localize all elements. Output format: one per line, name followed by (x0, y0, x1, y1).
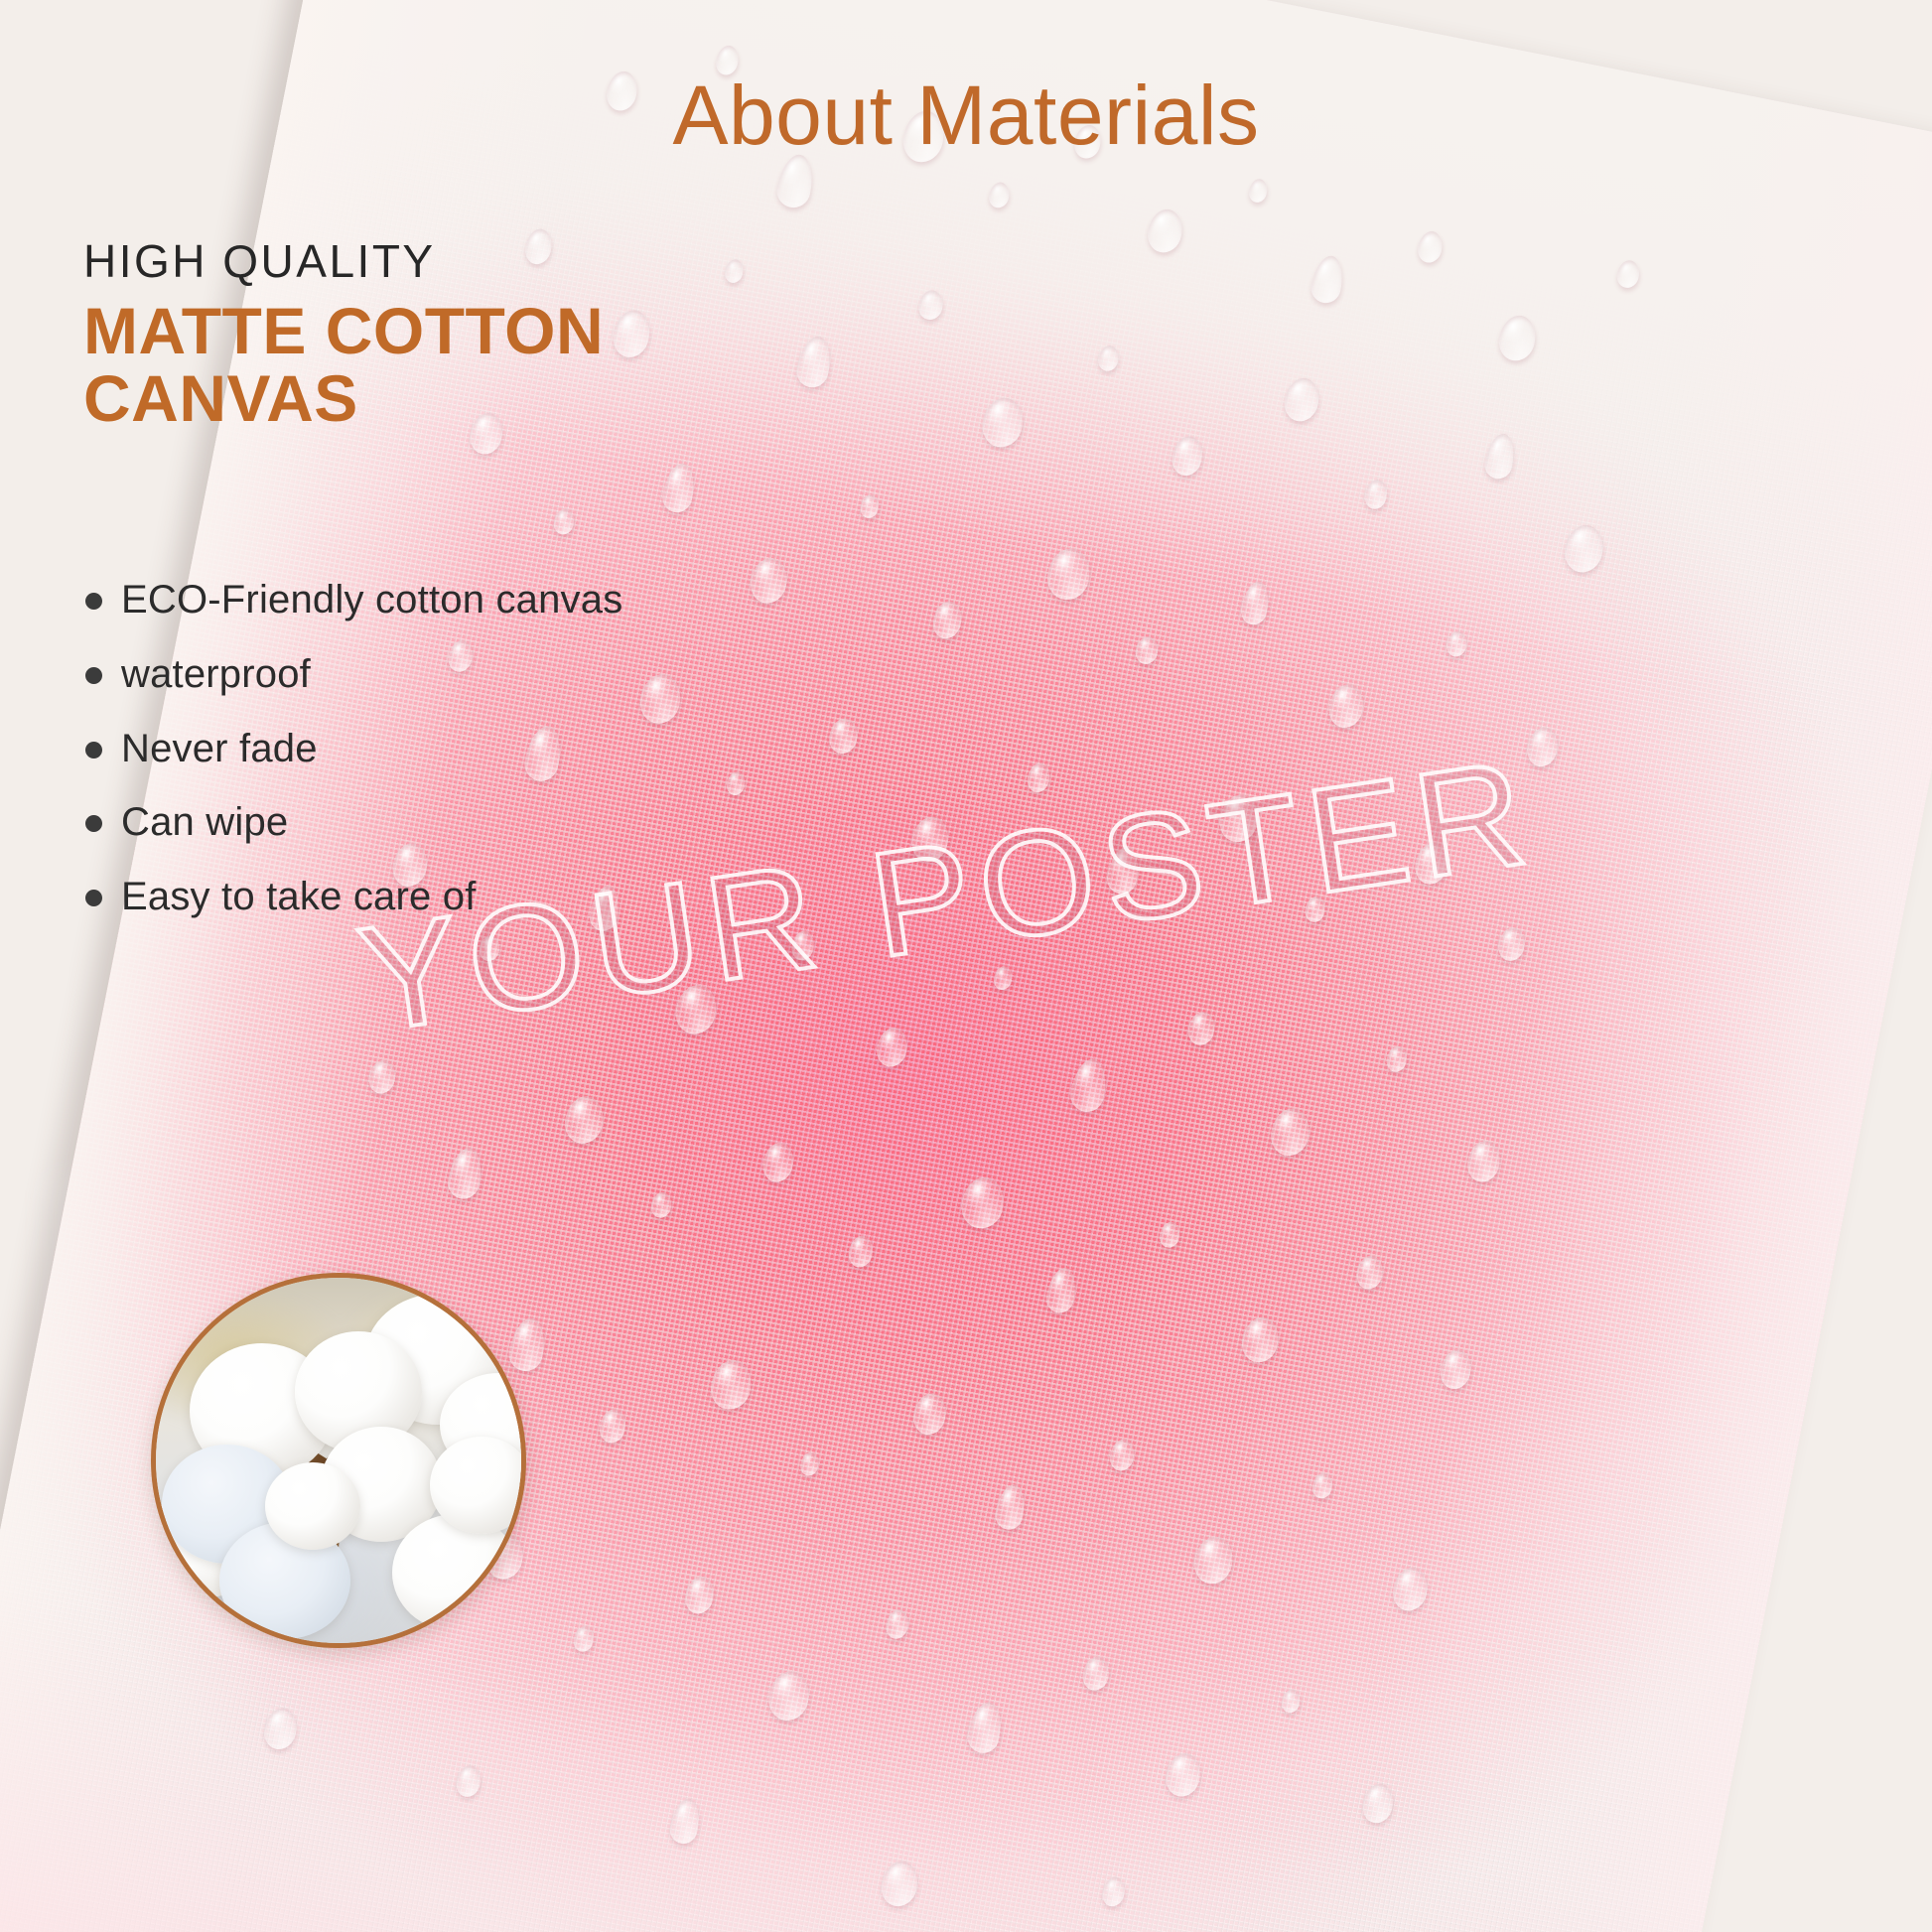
feature-text: Easy to take care of (121, 875, 477, 918)
list-item: Can wipe (83, 798, 699, 847)
feature-text: Never fade (121, 727, 318, 770)
headline-line-2: CANVAS (83, 361, 358, 435)
cotton-boll-badge (151, 1273, 526, 1648)
headline-line-1: MATTE COTTON (83, 294, 604, 367)
cotton-puff (430, 1437, 526, 1534)
cotton-boll-photo (156, 1278, 521, 1643)
bullet-dot-icon (85, 667, 102, 684)
infographic-canvas: YOUR POSTER About Materials HIGH QUALITY… (0, 0, 1932, 1932)
feature-text: waterproof (121, 652, 311, 696)
feature-text: ECO-Friendly cotton canvas (121, 578, 622, 621)
bullet-dot-icon (85, 742, 102, 759)
list-item: Never fade (83, 725, 699, 773)
bullet-dot-icon (85, 593, 102, 610)
eyebrow-label: HIGH QUALITY (83, 236, 719, 287)
bullet-dot-icon (85, 815, 102, 832)
list-item: waterproof (83, 650, 699, 699)
bullet-dot-icon (85, 890, 102, 906)
feature-list: ECO-Friendly cotton canvas waterproof Ne… (83, 576, 699, 947)
product-headline: MATTE COTTON CANVAS (83, 297, 719, 433)
page-title: About Materials (0, 68, 1932, 164)
feature-text: Can wipe (121, 800, 288, 844)
cotton-puff (392, 1514, 519, 1631)
cotton-puff (265, 1462, 360, 1550)
product-headline-block: HIGH QUALITY MATTE COTTON CANVAS (83, 236, 719, 433)
list-item: ECO-Friendly cotton canvas (83, 576, 699, 624)
list-item: Easy to take care of (83, 873, 699, 921)
